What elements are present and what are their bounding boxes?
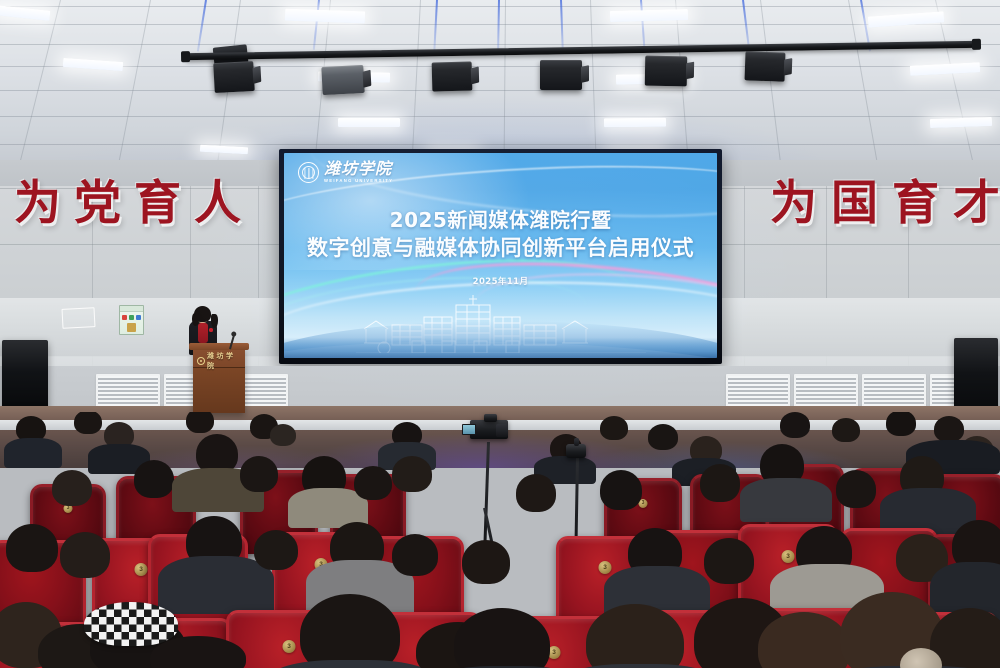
dslr-camera-prism — [484, 414, 497, 422]
audience-head — [700, 464, 740, 502]
audience-head — [600, 416, 628, 440]
audience-head — [354, 466, 392, 500]
left-pa-speaker — [2, 340, 48, 410]
wall-slogan-right: 为国育才 — [770, 180, 1000, 227]
checkered-beret — [84, 602, 178, 646]
louvered-air-vent — [862, 374, 926, 408]
weifang-university-emblem-icon — [298, 162, 319, 183]
audience-head — [704, 538, 754, 584]
seat-number: 3 — [283, 640, 296, 653]
audience-head — [832, 418, 860, 442]
tripod-head — [566, 444, 586, 458]
audience-head — [934, 416, 964, 442]
led-screen[interactable]: 潍坊学院 WEIFANG UNIVERSITY 2025新闻媒体潍院行暨 数字创… — [284, 153, 717, 358]
audience-head — [300, 594, 400, 668]
led-screen-bezel: 潍坊学院 WEIFANG UNIVERSITY 2025新闻媒体潍院行暨 数字创… — [279, 149, 722, 364]
seat-number: 3 — [135, 563, 148, 576]
audience-head — [254, 530, 298, 570]
louvered-air-vent — [794, 374, 858, 408]
ceiling-light-panel — [338, 118, 400, 127]
audience-head — [74, 412, 102, 434]
audience-head — [60, 532, 110, 578]
podium-chars: 潍坊学院 — [207, 351, 241, 371]
wall-notice-frame — [61, 307, 95, 329]
evacuation-plan-sign — [119, 305, 144, 335]
camera-flip-screen — [462, 424, 476, 435]
wall-slogan-left: 为党育人 — [14, 180, 254, 227]
screen-title-line2: 数字创意与融媒体协同创新平台启用仪式 — [284, 234, 717, 262]
seat-number: 3 — [782, 550, 795, 563]
podium-nameplate: 潍坊学院 — [197, 356, 241, 366]
screen-logo: 潍坊学院 WEIFANG UNIVERSITY — [298, 161, 393, 183]
audience-area: 3 3 3 3 3 3 3 3 — [0, 412, 1000, 668]
ceiling-color-tint — [0, 0, 1000, 172]
audience-head — [836, 470, 876, 508]
stage-light-fixture — [645, 56, 688, 87]
stage-light-fixture — [321, 65, 364, 95]
audience-head — [516, 474, 556, 512]
audience-head — [648, 424, 678, 450]
audience-head — [186, 412, 214, 433]
audience-head — [600, 470, 642, 510]
podium: 潍坊学院 — [193, 347, 245, 413]
ceiling-light-panel — [604, 118, 666, 128]
camera-lens — [496, 424, 508, 437]
weifang-university-emblem-icon — [197, 357, 205, 365]
audience-head — [270, 424, 296, 446]
audience-head — [780, 412, 810, 438]
audience-head — [240, 456, 278, 492]
ceiling-light-panel — [610, 9, 688, 22]
seat-number: 3 — [599, 561, 612, 574]
screen-logo-english: WEIFANG UNIVERSITY — [324, 179, 393, 183]
audience-shoulders — [4, 438, 62, 468]
louvered-air-vent — [726, 374, 790, 408]
tripod-head-knob — [574, 438, 579, 446]
lapel-badge — [209, 328, 213, 332]
audience-head — [462, 540, 510, 584]
stage-light-fixture — [745, 51, 786, 81]
audience-shoulders — [158, 556, 274, 614]
screen-date: 2025年11月 — [284, 275, 717, 287]
audience-shoulders — [740, 478, 832, 522]
audience-head — [886, 412, 916, 436]
louvered-air-vent — [96, 374, 160, 408]
stage-light-fixture — [432, 61, 473, 91]
ceiling — [0, 0, 1000, 172]
audience-head — [392, 456, 432, 492]
audience-head — [6, 524, 58, 572]
right-pa-speaker — [954, 338, 998, 416]
audience-head — [392, 534, 438, 576]
audience-head — [52, 470, 92, 506]
screen-title-line1: 2025新闻媒体潍院行暨 — [284, 207, 717, 234]
audience-head — [134, 460, 174, 498]
stage-light-fixture — [213, 61, 255, 93]
screen-logo-chinese: 潍坊学院 — [324, 161, 393, 177]
auditorium-photo: 为党育人 为国育才 潍坊学院 WEIFANG UNIVERSITY 202 — [0, 0, 1000, 668]
screen-title: 2025新闻媒体潍院行暨 数字创意与融媒体协同创新平台启用仪式 — [284, 207, 717, 262]
stage-light-fixture — [540, 60, 582, 90]
